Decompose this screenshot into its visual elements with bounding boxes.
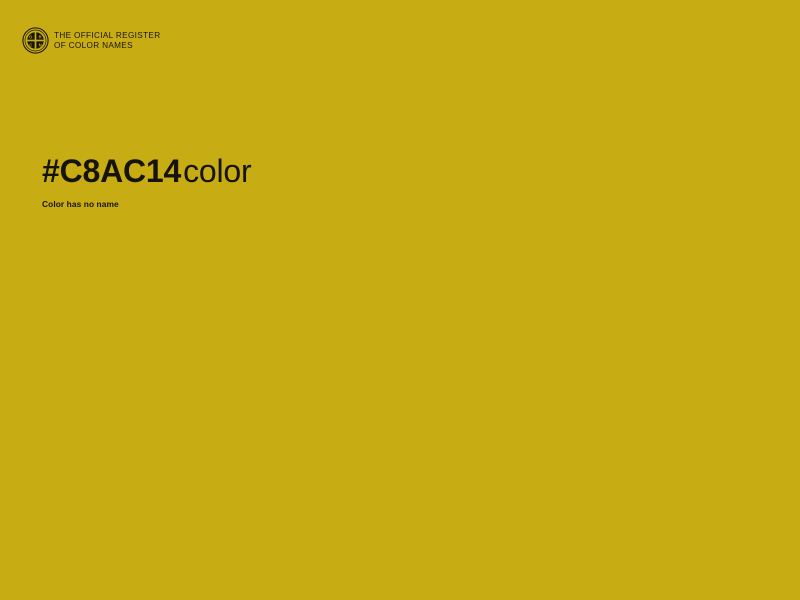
svg-text:C: C <box>29 43 32 48</box>
brand-lockup[interactable]: O R C N THE OFFICIAL REGISTER OF COLOR N… <box>22 27 160 54</box>
official-register-seal-icon: O R C N <box>22 27 49 54</box>
color-name-status: Color has no name <box>42 199 119 209</box>
brand-line-2: OF COLOR NAMES <box>54 41 160 51</box>
svg-text:R: R <box>39 34 42 39</box>
hex-code-label: #C8AC14 <box>42 153 181 189</box>
svg-text:N: N <box>39 43 42 48</box>
brand-line-1: THE OFFICIAL REGISTER <box>54 31 160 41</box>
brand-text: THE OFFICIAL REGISTER OF COLOR NAMES <box>54 31 160 50</box>
page-title: #C8AC14color <box>42 152 252 190</box>
heading-suffix-label: color <box>183 153 251 189</box>
color-page: O R C N THE OFFICIAL REGISTER OF COLOR N… <box>0 0 800 600</box>
